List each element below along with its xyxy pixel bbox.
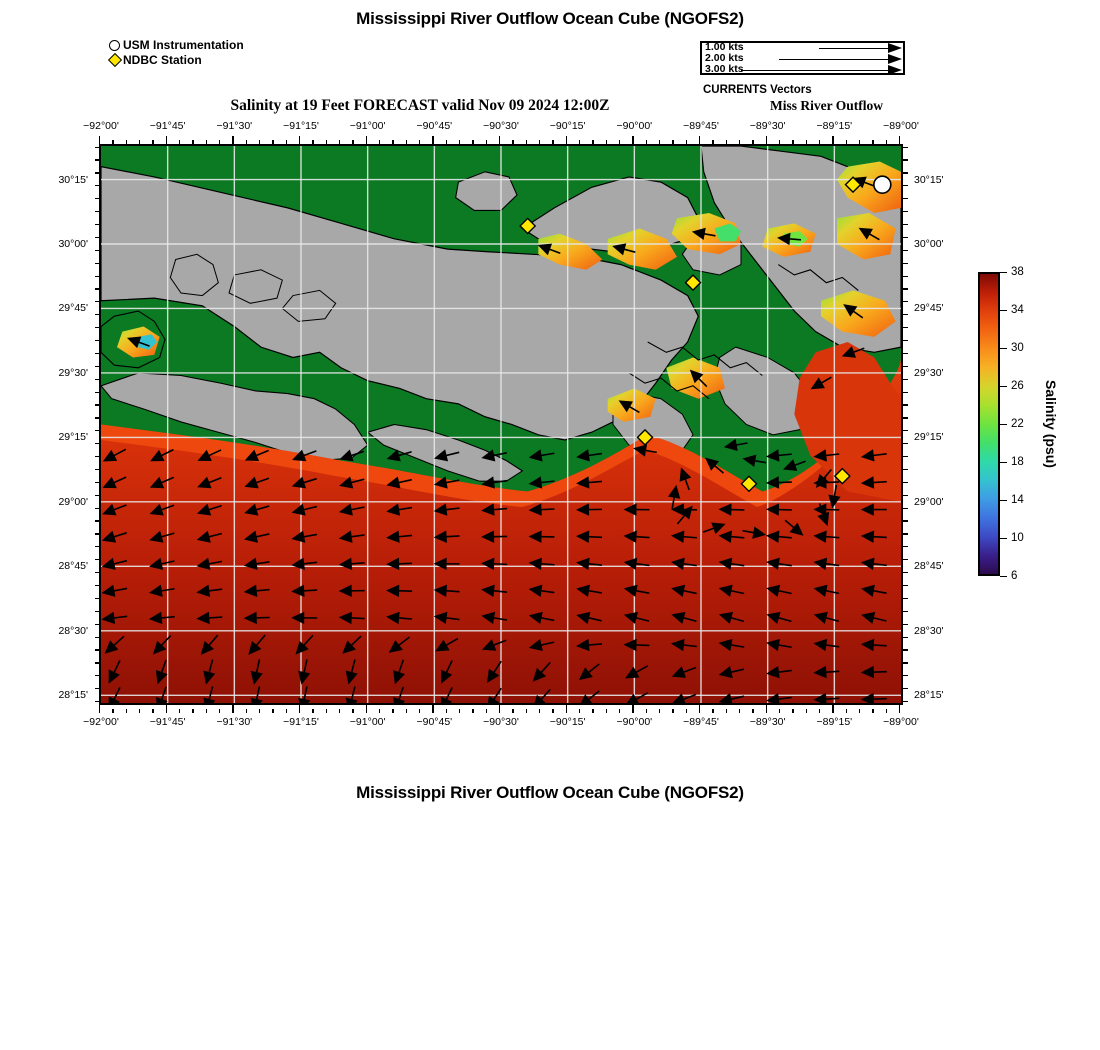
axis-minor-tick: [903, 520, 908, 521]
longitude-tick-label: −91°45': [150, 716, 186, 728]
current-vector-plume: [723, 437, 749, 453]
axis-minor-tick: [712, 709, 713, 714]
longitude-tick-label: −90°15': [550, 716, 586, 728]
axis-minor-tick: [903, 443, 908, 444]
axis-minor-tick: [686, 709, 687, 714]
axis-minor-tick: [139, 709, 140, 714]
current-vector-shelf: [765, 448, 792, 463]
axis-minor-tick: [272, 709, 273, 714]
axis-minor-tick: [539, 709, 540, 714]
axis-minor-tick: [903, 572, 908, 573]
axis-minor-tick: [406, 709, 407, 714]
axis-major-tick: [699, 136, 700, 144]
vector-head-2: [888, 54, 902, 64]
axis-minor-tick: [903, 159, 908, 160]
axis-minor-tick: [903, 224, 908, 225]
axis-minor-tick: [903, 301, 908, 302]
current-vector-shelf: [575, 447, 602, 463]
axis-minor-tick: [206, 709, 207, 714]
axis-minor-tick: [259, 709, 260, 714]
axis-major-tick: [99, 705, 100, 713]
dataset-corner-label: Miss River Outflow: [770, 98, 883, 114]
axis-major-tick: [299, 136, 300, 144]
colorbar-tick-label: 38: [1011, 266, 1024, 278]
legend-item-usm: USM Instrumentation: [109, 38, 244, 52]
map-canvas: [101, 146, 901, 703]
axis-major-tick: [366, 136, 367, 144]
longitude-labels-top: −92°00'−91°45'−91°30'−91°15'−91°00'−90°4…: [99, 120, 903, 134]
axis-minor-tick: [619, 709, 620, 714]
axis-major-tick: [632, 136, 633, 144]
page-title: Mississippi River Outflow Ocean Cube (NG…: [0, 9, 1100, 29]
latitude-tick-label: 28°15': [58, 689, 88, 701]
axis-ticks-left: [91, 144, 99, 705]
longitude-tick-label: −92°00': [83, 716, 119, 728]
axis-minor-tick: [903, 198, 908, 199]
latitude-tick-label: 28°30': [914, 625, 944, 637]
latitude-tick-label: 28°30': [58, 625, 88, 637]
axis-major-tick: [432, 705, 433, 713]
axis-major-tick: [366, 705, 367, 713]
axis-minor-tick: [792, 709, 793, 714]
axis-major-tick: [766, 136, 767, 144]
axis-minor-tick: [903, 598, 908, 599]
colorbar-tick: [1000, 424, 1007, 425]
axis-minor-tick: [179, 709, 180, 714]
latitude-tick-label: 30°00': [914, 238, 944, 250]
vector-head-1: [888, 43, 902, 53]
latitude-tick-label: 29°45': [914, 302, 944, 314]
longitude-tick-label: −90°00': [616, 716, 652, 728]
latitude-tick-label: 30°15': [58, 174, 88, 186]
longitude-tick-label: −91°00': [350, 716, 386, 728]
colorbar-tick-label: 34: [1011, 304, 1024, 316]
axis-minor-tick: [512, 709, 513, 714]
page-title-bottom: Mississippi River Outflow Ocean Cube (NG…: [0, 783, 1100, 803]
axis-minor-tick: [903, 417, 908, 418]
axis-minor-tick: [219, 709, 220, 714]
axis-minor-tick: [192, 709, 193, 714]
axis-minor-tick: [903, 637, 908, 638]
salinity-map-plot[interactable]: [99, 144, 903, 705]
colorbar-tick-label: 14: [1011, 494, 1024, 506]
axis-ticks-right: [903, 144, 911, 705]
axis-minor-tick: [859, 709, 860, 714]
axis-minor-tick: [886, 709, 887, 714]
axis-minor-tick: [903, 611, 908, 612]
longitude-tick-label: −89°15': [816, 120, 852, 132]
longitude-tick-label: −89°15': [816, 716, 852, 728]
axis-minor-tick: [606, 709, 607, 714]
axis-minor-tick: [312, 709, 313, 714]
longitude-tick-label: −89°00': [883, 716, 919, 728]
axis-minor-tick: [126, 709, 127, 714]
axis-minor-tick: [903, 237, 908, 238]
axis-minor-tick: [903, 250, 908, 251]
latitude-tick-label: 28°15': [914, 689, 944, 701]
axis-minor-tick: [552, 709, 553, 714]
axis-minor-tick: [903, 172, 908, 173]
axis-minor-tick: [472, 709, 473, 714]
axis-minor-tick: [592, 709, 593, 714]
vector-shaft-3: [741, 70, 889, 71]
axis-minor-tick: [903, 430, 908, 431]
axis-major-tick: [699, 705, 700, 713]
axis-major-tick: [899, 136, 900, 144]
longitude-tick-label: −91°30': [216, 716, 252, 728]
axis-ticks-top: [99, 136, 903, 144]
longitude-tick-label: −89°45': [683, 120, 719, 132]
latitude-tick-label: 29°15': [914, 431, 944, 443]
axis-minor-tick: [903, 675, 908, 676]
colorbar-tick: [1000, 386, 1007, 387]
colorbar-tick: [1000, 462, 1007, 463]
longitude-tick-label: −91°15': [283, 716, 319, 728]
marker-legend: USM Instrumentation NDBC Station: [109, 38, 244, 67]
axis-major-tick: [432, 136, 433, 144]
legend-item-ndbc: NDBC Station: [109, 53, 244, 67]
axis-minor-tick: [903, 701, 908, 702]
axis-minor-tick: [903, 314, 908, 315]
axis-minor-tick: [903, 288, 908, 289]
latitude-tick-label: 30°15': [914, 174, 944, 186]
longitude-labels-bottom: −92°00'−91°45'−91°30'−91°15'−91°00'−90°4…: [99, 716, 903, 730]
axis-minor-tick: [903, 263, 908, 264]
latitude-tick-label: 29°45': [58, 302, 88, 314]
currents-legend-caption: CURRENTS Vectors: [703, 84, 812, 96]
colorbar-tick: [1000, 272, 1007, 273]
colorbar-tick-label: 26: [1011, 380, 1024, 392]
current-vector-shelf: [528, 447, 556, 464]
latitude-tick-label: 29°30': [914, 367, 944, 379]
latitude-tick-label: 29°00': [58, 496, 88, 508]
axis-minor-tick: [739, 709, 740, 714]
axis-minor-tick: [246, 709, 247, 714]
colorbar-ticks: [1000, 272, 1008, 576]
longitude-tick-label: −90°30': [483, 120, 519, 132]
ndbc-diamond-icon: [108, 53, 122, 67]
axis-minor-tick: [326, 709, 327, 714]
axis-minor-tick: [112, 709, 113, 714]
figure-root: Mississippi River Outflow Ocean Cube (NG…: [0, 0, 1100, 1050]
longitude-tick-label: −89°00': [883, 120, 919, 132]
vector-scale-row: 3.00 kts: [702, 65, 903, 76]
legend-label-ndbc: NDBC Station: [123, 53, 202, 67]
axis-major-tick: [99, 136, 100, 144]
axis-minor-tick: [903, 379, 908, 380]
colorbar-tick-label: 30: [1011, 342, 1024, 354]
chart-subtitle: Salinity at 19 Feet FORECAST valid Nov 0…: [0, 97, 840, 115]
axis-minor-tick: [872, 709, 873, 714]
axis-minor-tick: [903, 559, 908, 560]
axis-minor-tick: [806, 709, 807, 714]
latitude-tick-label: 29°15': [58, 431, 88, 443]
axis-minor-tick: [152, 709, 153, 714]
axis-minor-tick: [903, 327, 908, 328]
axis-major-tick: [899, 705, 900, 713]
colorbar-tick: [1000, 348, 1007, 349]
vector-shaft-2: [779, 59, 889, 60]
axis-minor-tick: [903, 276, 908, 277]
latitude-labels-left: 30°15'30°00'29°45'29°30'29°15'29°00'28°4…: [28, 144, 88, 705]
axis-minor-tick: [903, 662, 908, 663]
axis-minor-tick: [379, 709, 380, 714]
axis-minor-tick: [819, 709, 820, 714]
colorbar-tick-label: 18: [1011, 456, 1024, 468]
axis-minor-tick: [903, 624, 908, 625]
axis-major-tick: [566, 705, 567, 713]
axis-minor-tick: [286, 709, 287, 714]
ndbc-station-marker[interactable]: [686, 275, 701, 290]
axis-minor-tick: [526, 709, 527, 714]
axis-major-tick: [566, 136, 567, 144]
latitude-tick-label: 28°45': [58, 560, 88, 572]
longitude-tick-label: −89°45': [683, 716, 719, 728]
colorbar-tick: [1000, 500, 1007, 501]
colorbar: [978, 272, 1000, 576]
longitude-tick-label: −89°30': [750, 120, 786, 132]
axis-minor-tick: [903, 340, 908, 341]
axis-major-tick: [232, 136, 233, 144]
axis-minor-tick: [903, 688, 908, 689]
axis-minor-tick: [726, 709, 727, 714]
current-vector-eddy: [741, 452, 767, 468]
axis-minor-tick: [903, 495, 908, 496]
axis-minor-tick: [672, 709, 673, 714]
colorbar-tick-labels: 38343026221814106: [1011, 272, 1041, 576]
axis-minor-tick: [779, 709, 780, 714]
axis-minor-tick: [903, 508, 908, 509]
longitude-tick-label: −92°00': [83, 120, 119, 132]
axis-minor-tick: [446, 709, 447, 714]
axis-minor-tick: [903, 469, 908, 470]
axis-minor-tick: [903, 585, 908, 586]
longitude-tick-label: −90°45': [416, 716, 452, 728]
latitude-tick-label: 30°00': [58, 238, 88, 250]
axis-minor-tick: [903, 404, 908, 405]
longitude-tick-label: −91°30': [216, 120, 252, 132]
vector-shaft-1: [819, 48, 889, 49]
axis-minor-tick: [659, 709, 660, 714]
axis-minor-tick: [419, 709, 420, 714]
axis-minor-tick: [903, 353, 908, 354]
axis-minor-tick: [903, 649, 908, 650]
axis-minor-tick: [903, 392, 908, 393]
axis-major-tick: [232, 705, 233, 713]
axis-minor-tick: [903, 533, 908, 534]
colorbar-gradient: [980, 274, 998, 574]
axis-major-tick: [499, 705, 500, 713]
axis-major-tick: [166, 705, 167, 713]
longitude-tick-label: −89°30': [750, 716, 786, 728]
longitude-tick-label: −91°15': [283, 120, 319, 132]
axis-minor-tick: [903, 211, 908, 212]
colorbar-tick: [1000, 310, 1007, 311]
axis-major-tick: [499, 136, 500, 144]
usm-instrumentation-marker[interactable]: [874, 176, 891, 193]
colorbar-tick: [1000, 576, 1007, 577]
legend-label-usm: USM Instrumentation: [123, 38, 244, 52]
colorbar-tick-label: 6: [1011, 570, 1017, 582]
longitude-tick-label: −90°30': [483, 716, 519, 728]
latitude-labels-right: 30°15'30°00'29°45'29°30'29°15'29°00'28°4…: [914, 144, 974, 705]
usm-circle-icon: [109, 40, 120, 51]
axis-minor-tick: [903, 482, 908, 483]
longitude-tick-label: −90°15': [550, 120, 586, 132]
axis-minor-tick: [392, 709, 393, 714]
longitude-tick-label: −91°00': [350, 120, 386, 132]
vector-head-3: [888, 65, 902, 75]
axis-minor-tick: [339, 709, 340, 714]
axis-ticks-bottom: [99, 705, 903, 713]
axis-minor-tick: [752, 709, 753, 714]
axis-minor-tick: [903, 366, 908, 367]
axis-minor-tick: [459, 709, 460, 714]
latitude-tick-label: 29°30': [58, 367, 88, 379]
axis-minor-tick: [846, 709, 847, 714]
latitude-tick-label: 28°45': [914, 560, 944, 572]
axis-minor-tick: [486, 709, 487, 714]
axis-major-tick: [166, 136, 167, 144]
longitude-tick-label: −90°45': [416, 120, 452, 132]
axis-minor-tick: [903, 546, 908, 547]
colorbar-title: Salinity (psu): [1040, 272, 1062, 576]
axis-major-tick: [299, 705, 300, 713]
axis-minor-tick: [903, 185, 908, 186]
latitude-tick-label: 29°00': [914, 496, 944, 508]
axis-minor-tick: [646, 709, 647, 714]
lake-maurepas: [456, 172, 517, 211]
colorbar-tick: [1000, 538, 1007, 539]
axis-major-tick: [766, 705, 767, 713]
axis-major-tick: [832, 705, 833, 713]
axis-major-tick: [832, 136, 833, 144]
axis-major-tick: [632, 705, 633, 713]
axis-minor-tick: [352, 709, 353, 714]
colorbar-tick-label: 10: [1011, 532, 1024, 544]
longitude-tick-label: −91°45': [150, 120, 186, 132]
vector-scale-label-3: 3.00 kts: [705, 64, 744, 75]
currents-vector-legend: 1.00 kts 2.00 kts 3.00 kts: [700, 41, 905, 75]
colorbar-tick-label: 22: [1011, 418, 1024, 430]
longitude-tick-label: −90°00': [616, 120, 652, 132]
axis-minor-tick: [579, 709, 580, 714]
axis-minor-tick: [903, 456, 908, 457]
axis-minor-tick: [903, 147, 908, 148]
